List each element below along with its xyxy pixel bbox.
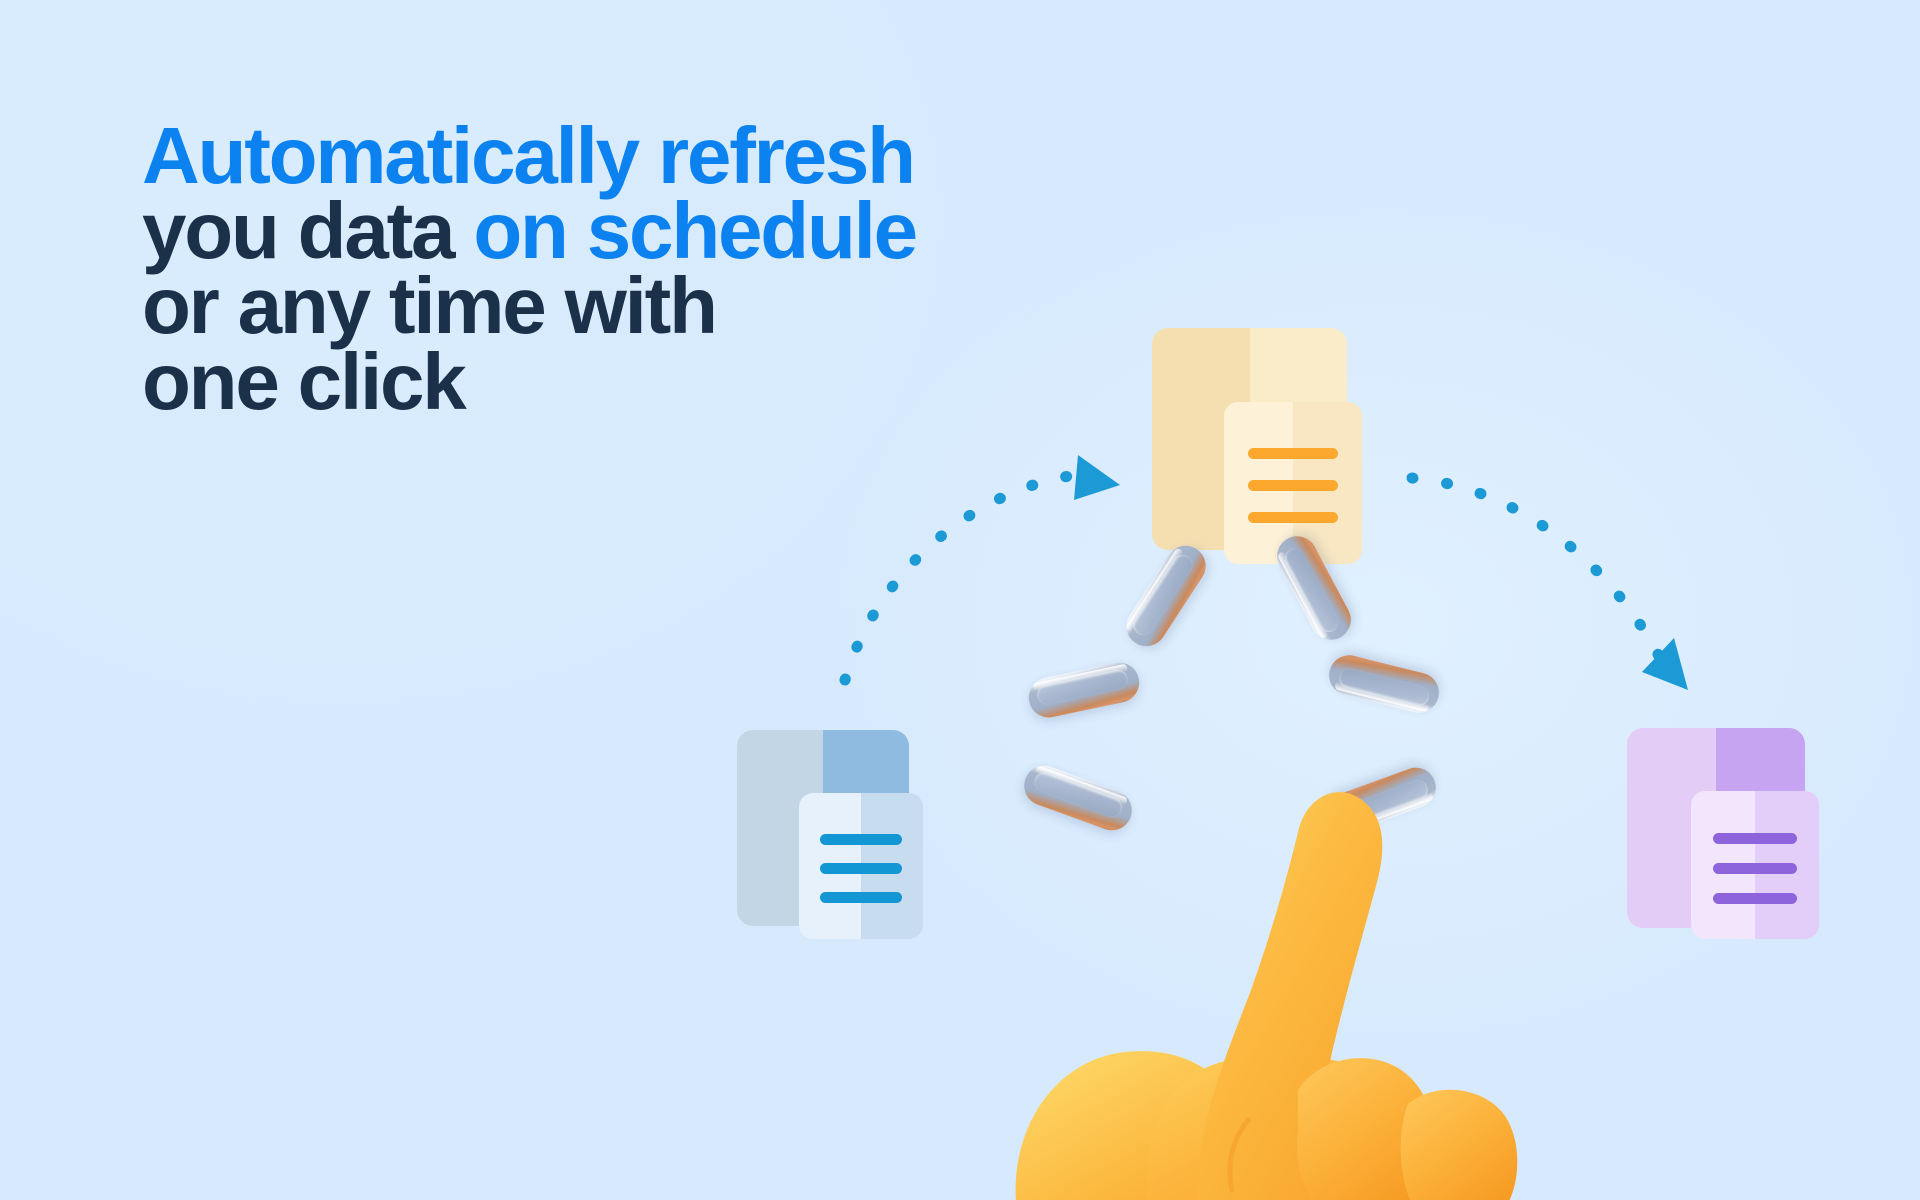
headline-line-2: you data on schedule (142, 193, 1082, 268)
document-text-lines (1691, 791, 1819, 939)
document-line-1 (820, 834, 902, 845)
page-title: Automatically refresh you data on schedu… (142, 118, 1082, 419)
document-line-2 (1713, 863, 1797, 874)
document-line-3 (1248, 512, 1338, 523)
click-ray-icon (1325, 651, 1443, 717)
arrow-top-to-right-path (1412, 478, 1662, 662)
document-line-3 (820, 892, 902, 903)
click-ray-icon (1025, 659, 1143, 721)
hand-curled-ring-finger (1401, 1090, 1518, 1200)
pointing-hand-icon (900, 760, 1520, 1200)
source-document-icon (737, 730, 909, 926)
headline-line-4: one click (142, 344, 1082, 419)
arrow-top-to-right-head (1642, 638, 1688, 690)
refreshed-document-icon (1152, 328, 1347, 550)
headline-line-3: or any time with (142, 268, 1082, 343)
headline-line-1: Automatically refresh (142, 118, 1082, 193)
target-document-icon (1627, 728, 1805, 928)
click-ray-icon (1119, 538, 1214, 654)
document-line-2 (820, 863, 902, 874)
document-line-2 (1248, 480, 1338, 491)
document-line-1 (1248, 448, 1338, 459)
document-front-sheet (1691, 791, 1819, 939)
document-line-1 (1713, 833, 1797, 844)
document-line-3 (1713, 893, 1797, 904)
arrow-left-to-top-head (1074, 455, 1120, 500)
